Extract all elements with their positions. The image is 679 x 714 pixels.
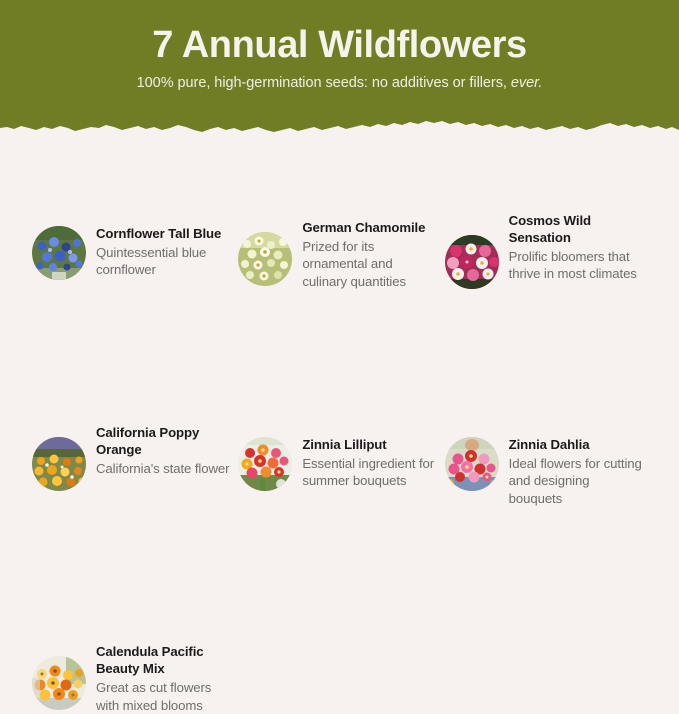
torn-paper-edge-icon (0, 118, 679, 142)
flower-description: Quintessential blue cornflower (96, 244, 230, 279)
page-title: 7 Annual Wildflowers (0, 25, 679, 67)
zinnia-dahlia-photo (445, 437, 499, 491)
page-subtitle-main: 100% pure, high-germination seeds: no ad… (137, 75, 511, 91)
flower-text-block: Zinnia Lilliput Essential ingredient for… (302, 437, 436, 490)
flower-name: Cornflower Tall Blue (96, 226, 230, 243)
flower-text-block: Zinnia Dahlia Ideal flowers for cutting … (509, 437, 643, 507)
flower-text-block: California Poppy Orange California's sta… (96, 425, 230, 477)
flower-row: California Poppy Orange California's sta… (32, 420, 651, 507)
flower-item-cornflower-tall-blue[interactable]: Cornflower Tall Blue Quintessential blue… (32, 200, 238, 280)
flower-item-zinnia-lilliput[interactable]: Zinnia Lilliput Essential ingredient for… (238, 420, 444, 491)
flower-text-block: Cornflower Tall Blue Quintessential blue… (96, 226, 230, 279)
german-chamomile-photo (238, 232, 292, 286)
header-banner: 7 Annual Wildflowers 100% pure, high-ger… (0, 0, 679, 142)
cornflower-tall-blue-photo (32, 226, 86, 280)
cosmos-wild-sensation-photo (445, 235, 499, 289)
flower-item-zinnia-dahlia[interactable]: Zinnia Dahlia Ideal flowers for cutting … (445, 420, 651, 507)
flower-description: Great as cut flowers with mixed blooms (96, 679, 230, 714)
flower-name: Cosmos Wild Sensation (509, 213, 643, 247)
flower-description: California's state flower (96, 460, 230, 477)
zinnia-lilliput-photo (238, 437, 292, 491)
california-poppy-orange-photo (32, 437, 86, 491)
flower-description: Prized for its ornamental and culinary q… (302, 238, 436, 290)
flower-description: Prolific bloomers that thrive in most cl… (509, 248, 643, 283)
page-subtitle-emphasis: ever. (511, 75, 542, 91)
flower-name: Zinnia Lilliput (302, 437, 436, 454)
flower-text-block: German Chamomile Prized for its ornament… (302, 220, 436, 290)
flower-list: Cornflower Tall Blue Quintessential blue… (0, 200, 679, 714)
flower-name: German Chamomile (302, 220, 436, 237)
flower-name: Zinnia Dahlia (509, 437, 643, 454)
flower-description: Essential ingredient for summer bouquets (302, 455, 436, 490)
flower-item-california-poppy-orange[interactable]: California Poppy Orange California's sta… (32, 420, 238, 491)
flower-item-cosmos-wild-sensation[interactable]: Cosmos Wild Sensation Prolific bloomers … (445, 200, 651, 289)
flower-description: Ideal flowers for cutting and designing … (509, 455, 643, 507)
page-subtitle: 100% pure, high-germination seeds: no ad… (0, 75, 679, 92)
flower-text-block: Calendula Pacific Beauty Mix Great as cu… (96, 644, 230, 714)
calendula-pacific-beauty-mix-photo (32, 656, 86, 710)
flower-row: Calendula Pacific Beauty Mix Great as cu… (32, 639, 651, 714)
flower-text-block: Cosmos Wild Sensation Prolific bloomers … (509, 213, 643, 283)
flower-item-german-chamomile[interactable]: German Chamomile Prized for its ornament… (238, 200, 444, 290)
flower-name: California Poppy Orange (96, 425, 230, 459)
flower-row: Cornflower Tall Blue Quintessential blue… (32, 200, 651, 290)
flower-name: Calendula Pacific Beauty Mix (96, 644, 230, 678)
flower-item-calendula-pacific-beauty-mix[interactable]: Calendula Pacific Beauty Mix Great as cu… (32, 639, 238, 714)
header-text-block: 7 Annual Wildflowers 100% pure, high-ger… (0, 0, 679, 92)
